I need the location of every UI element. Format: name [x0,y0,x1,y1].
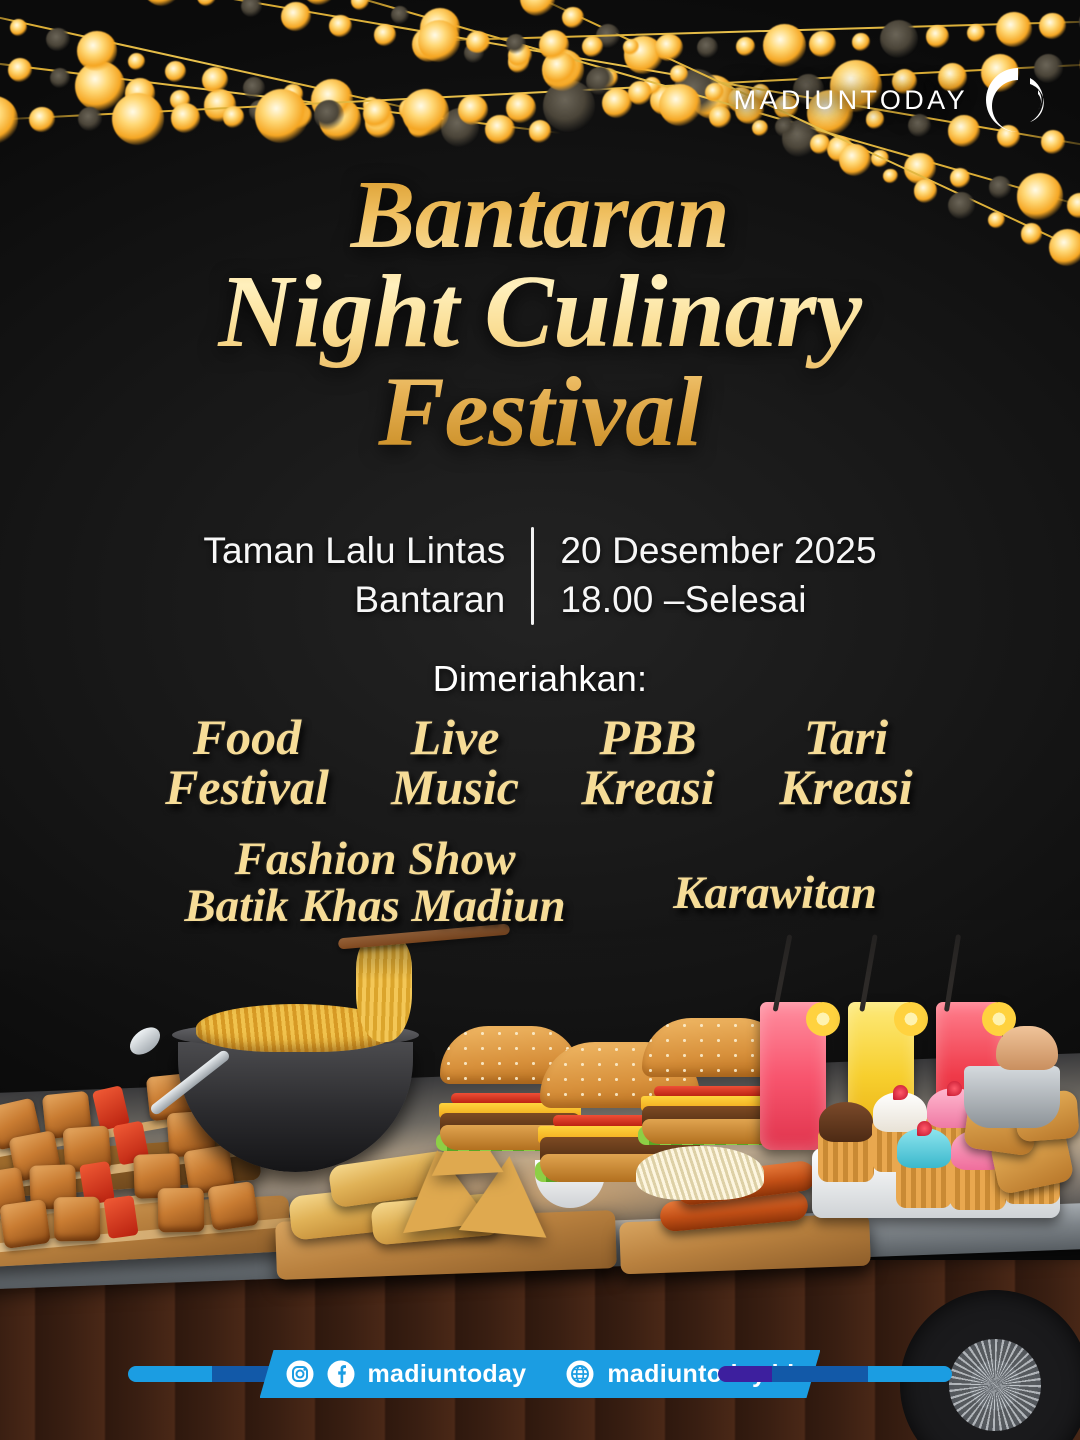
raspberry-topping [893,1085,908,1100]
attraction-pbb-kreasi: PBB Kreasi [550,712,746,812]
venue-block: Taman Lalu Lintas Bantaran [203,527,531,625]
datetime-block: 20 Desember 2025 18.00 –Selesai [534,527,876,625]
attraction-label-line2: Batik Khas Madiun [140,883,610,930]
page-title: Bantaran Night Culinary Festival [0,168,1080,460]
social-handle[interactable]: madiuntoday [368,1360,527,1389]
brand-logo: MADIUNTODAY [734,62,1046,138]
attractions-heading: Dimeriahkan: [0,658,1080,700]
attraction-label-line1: Live [360,712,550,762]
attraction-label-line2: Festival [134,762,360,812]
title-line-2: Night Culinary [0,262,1080,363]
lemon-slice-garnish [806,1002,840,1036]
raspberry-topping [917,1121,932,1136]
attraction-live-music: Live Music [360,712,550,812]
attraction-label-line1: Food [134,712,360,762]
title-line-3: Festival [0,363,1080,460]
event-time: 18.00 –Selesai [560,576,876,625]
attraction-tari-kreasi: Tari Kreasi [746,712,946,812]
event-date: 20 Desember 2025 [560,527,876,576]
attraction-fashion-show: Fashion Show Batik Khas Madiun [140,836,610,930]
title-line-1: Bantaran [0,168,1080,262]
globe-icon[interactable] [566,1360,594,1388]
event-details: Taman Lalu Lintas Bantaran 20 Desember 2… [0,527,1080,625]
accent-bar-lightblue [868,1366,952,1382]
attraction-label-line2: Music [360,762,550,812]
grilled-meat-piece [0,1199,51,1249]
crescent-swirl-mark [974,62,1046,138]
attraction-label-line1: Fashion Show [140,836,610,883]
metal-pot [964,1066,1060,1128]
accent-bar-purple [718,1366,772,1382]
attraction-label-line2: Kreasi [746,762,946,812]
attractions-row-2: Fashion Show Batik Khas Madiun Karawitan [0,836,1080,930]
attraction-food-festival: Food Festival [134,712,360,812]
event-poster: MADIUNTODAY Bantaran Night Culinary Fest… [0,0,1080,1440]
attraction-label-line1: Tari [746,712,946,762]
bell-pepper-piece [103,1195,138,1239]
facebook-icon[interactable] [327,1360,355,1388]
attraction-label-line1: Karawitan [610,870,940,917]
venue-line-1: Taman Lalu Lintas [203,527,505,576]
raspberry-topping [947,1081,962,1096]
grilled-meat-piece [207,1181,259,1231]
social-footer: madiuntoday madiuntoday.id [0,1350,1080,1398]
attractions-row-1: Food Festival Live Music PBB Kreasi Tari… [0,712,1080,812]
brand-logo-text: MADIUNTODAY [734,85,968,116]
grilled-meat-piece [54,1197,101,1242]
attraction-label-line2: Kreasi [550,762,746,812]
footer-right-accent-bars [718,1366,952,1382]
serving-spoon-head [125,1022,165,1060]
venue-line-2: Bantaran [203,576,505,625]
hand-serving [996,1026,1058,1070]
accent-bar-blue [772,1366,868,1382]
chocolate-cupcake-frosting [819,1102,873,1142]
attraction-karawitan: Karawitan [610,836,940,917]
coleslaw [636,1146,764,1200]
attraction-label-line1: PBB [550,712,746,762]
accent-bar-lightblue [128,1366,212,1382]
lemon-slice-garnish [894,1002,928,1036]
grilled-meat-piece [158,1188,205,1233]
instagram-icon[interactable] [286,1360,314,1388]
